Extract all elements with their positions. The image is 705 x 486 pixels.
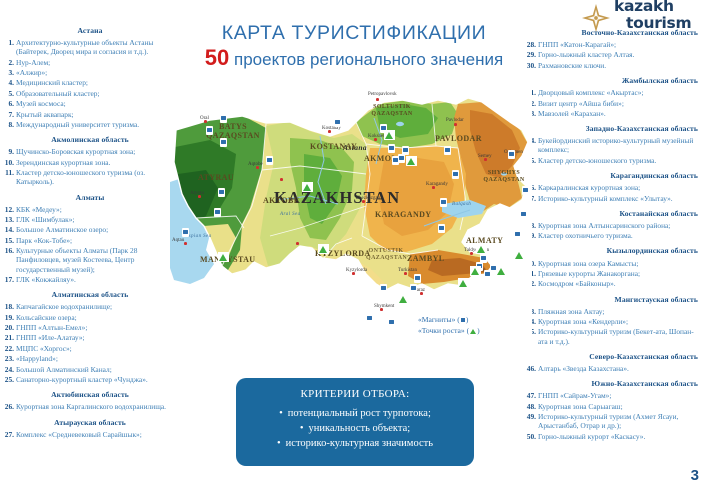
project-text: Алтарь «Звезда Казахстана».: [538, 364, 629, 373]
map-marker-growth-point[interactable]: [318, 244, 329, 254]
project-text: Кольсайские озера;: [16, 313, 77, 322]
map-marker-growth-point[interactable]: [384, 130, 395, 140]
region-group: Карагандинская область36.Каркаралинская …: [524, 171, 700, 203]
project-item[interactable]: 14.Большое Алматинское озеро;: [2, 225, 178, 234]
project-list: 27.Комплекс «Средневековый Сарайшык»;: [2, 430, 178, 439]
project-text: Пляжная зона Актау;: [538, 307, 604, 316]
project-number: 26.: [2, 402, 14, 411]
project-item[interactable]: 22.МЦПС «Хоргос»;: [2, 344, 178, 353]
map-marker-growth-point[interactable]: [514, 250, 525, 260]
map-city-dot: [362, 200, 365, 203]
map-city-dot: [352, 272, 355, 275]
project-list: 36.Каркаралинская курортная зона;37.Исто…: [524, 183, 700, 203]
map-marker-growth-point[interactable]: [458, 278, 469, 288]
map-marker-growth-point[interactable]: [398, 294, 409, 304]
map-legend-label: «Точки роста»: [418, 326, 465, 335]
map-city-dot: [432, 186, 435, 189]
project-number: 21.: [2, 333, 14, 342]
project-text: ГНПП «Сайрам-Угам»;: [538, 391, 611, 400]
region-group: Жамбылская область31.Дворцовый комплекс …: [524, 76, 700, 118]
map-marker-growth-point[interactable]: [496, 266, 507, 276]
project-text: Комплекс «Средневековый Сарайшык»;: [16, 430, 142, 439]
project-item[interactable]: 33.Мавзолей «Карахан».: [524, 109, 700, 118]
map-city-dot: [454, 123, 457, 126]
project-list: 28.ГНПП «Катон-Карагай»;29.Горно-лыжный …: [524, 40, 700, 70]
map-marker-magnet[interactable]: [220, 138, 227, 147]
region-group: Алматинская область18.Капчагайское водох…: [2, 290, 178, 384]
project-number: 11.: [2, 168, 14, 177]
project-number: 29.: [524, 50, 536, 59]
project-number: 19.: [2, 313, 14, 322]
map-marker-magnet[interactable]: [520, 210, 527, 219]
project-item[interactable]: 45.Историко-культурный туризм (Бекет-ата…: [524, 327, 700, 345]
map-marker-magnet[interactable]: [438, 224, 445, 233]
project-item[interactable]: 9.Щучинско-Боровская курортная зона;: [2, 147, 178, 156]
project-item[interactable]: 35.Кластер детско-юношеского туризма.: [524, 156, 700, 165]
map-city-dot: [204, 120, 207, 123]
criteria-item: потенциальный рост турпотока;: [236, 406, 474, 421]
project-number: 4.: [2, 78, 14, 87]
project-number: 17.: [2, 275, 14, 284]
project-text: КБК «Медеу»;: [16, 205, 62, 214]
project-list: 18.Капчагайское водохранилище;19.Кольсай…: [2, 302, 178, 384]
map-marker-growth-point[interactable]: [218, 252, 229, 262]
project-item[interactable]: 34.Букейординский историко-культурный му…: [524, 136, 700, 154]
project-text: Парк «Кок-Тобе»;: [16, 236, 72, 245]
project-count: 50: [205, 45, 229, 70]
project-text: Курортная зона озера Камысты;: [538, 259, 638, 268]
project-list: 43.Пляжная зона Актау;44.Курортная зона …: [524, 307, 700, 346]
poster-page: kazakh tourism КАРТА ТУРИСТИФИКАЦИИ 50 п…: [0, 0, 705, 486]
project-number: 28.: [524, 40, 536, 49]
map-marker-magnet[interactable]: [410, 284, 417, 293]
map-marker-magnet[interactable]: [366, 314, 373, 323]
region-group-title: Алматинская область: [2, 290, 178, 299]
project-number: 18.: [2, 302, 14, 311]
project-list: 38.Курортная зона Алтынсаринского района…: [524, 221, 700, 241]
map-marker-magnet[interactable]: [392, 156, 399, 165]
project-number: 16.: [2, 246, 14, 255]
map-marker-magnet[interactable]: [398, 154, 405, 163]
project-text: Визит центр «Айша биби»;: [538, 99, 624, 108]
project-item[interactable]: 36.Каркаралинская курортная зона;: [524, 183, 700, 192]
region-group-title: Карагандинская область: [524, 171, 700, 180]
map-city-dot: [328, 130, 331, 133]
project-number: 46.: [524, 364, 536, 373]
logo-line-1: kazakh: [614, 0, 691, 15]
map-marker-magnet[interactable]: [522, 186, 529, 195]
project-item[interactable]: 2.Нур-Алем;: [2, 58, 178, 67]
project-item[interactable]: 32.Визит центр «Айша биби»;: [524, 99, 700, 108]
project-list: 46.Алтарь «Звезда Казахстана».: [524, 364, 700, 373]
map-marker-magnet[interactable]: [440, 198, 447, 207]
project-text: Рахмановские ключи.: [538, 61, 606, 70]
project-item[interactable]: 29.Горно-лыжный кластер Алтая.: [524, 50, 700, 59]
project-item[interactable]: 48.Курортная зона Сарыагаш;: [524, 402, 700, 411]
legend-growth-marker: (): [465, 326, 480, 335]
region-group: Восточно-Казахстанская область28.ГНПП «К…: [524, 28, 700, 70]
criteria-box: КРИТЕРИИ ОТБОРА: потенциальный рост турп…: [236, 378, 474, 466]
project-item[interactable]: 37.Историко-культурный комплекс «Улытау»…: [524, 194, 700, 203]
page-number: 3: [691, 467, 699, 484]
project-item[interactable]: 41.Грязевые курорты Жанакоргана;: [524, 269, 700, 278]
project-text: Каркаралинская курортная зона;: [538, 183, 640, 192]
project-item[interactable]: 5.Образовательный кластер;: [2, 89, 178, 98]
project-text: Историко-культурный комплекс «Улытау».: [538, 194, 673, 203]
project-number: 10.: [2, 158, 14, 167]
project-text: «Happyland»;: [16, 354, 58, 363]
project-item[interactable]: 13.ГЛК «Шимбулак»;: [2, 215, 178, 224]
project-text: ГЛК «Кокжайляу».: [16, 275, 76, 284]
project-item[interactable]: 47.ГНПП «Сайрам-Угам»;: [524, 391, 700, 400]
project-number: 50.: [524, 432, 536, 441]
title-line-1: КАРТА ТУРИСТИФИКАЦИИ: [178, 22, 530, 44]
map-marker-growth-point[interactable]: [470, 266, 481, 276]
project-number: 25.: [2, 375, 14, 384]
project-number: 9.: [2, 147, 14, 156]
project-item[interactable]: 43.Пляжная зона Актау;: [524, 307, 700, 316]
project-item[interactable]: 39.Кластер охотничьего туризма.: [524, 231, 700, 240]
project-item[interactable]: 49.Историко-культурный туризм (Ахмет Яса…: [524, 412, 700, 430]
project-text: МЦПС «Хоргос»;: [16, 344, 72, 353]
project-text: Культурные объекты Алматы (Парк 28 Панфи…: [16, 246, 137, 273]
project-text: Грязевые курорты Жанакоргана;: [538, 269, 640, 278]
project-text: Щучинско-Боровская курортная зона;: [16, 147, 135, 156]
map-legend-label: «Магниты»: [418, 315, 455, 324]
project-list: 26.Курортная зона Каргалинского водохран…: [2, 402, 178, 411]
project-text: ГЛК «Шимбулак»;: [16, 215, 74, 224]
project-number: 2.: [2, 58, 14, 67]
map-marker-growth-point[interactable]: [302, 182, 313, 192]
region-group: Южно-Казахстанская область47.ГНПП «Сайра…: [524, 379, 700, 441]
page-title: КАРТА ТУРИСТИФИКАЦИИ 50 проектов региона…: [178, 22, 530, 72]
region-group-title: Актюбинская область: [2, 390, 178, 399]
map-city-dot: [296, 242, 299, 245]
criteria-item: историко-культурная значимость: [236, 436, 474, 451]
project-text: Курортная зона Сарыагаш;: [538, 402, 623, 411]
region-group-title: Северо-Казахстанская область: [524, 352, 700, 361]
title-line-2: 50 проектов регионального значения: [178, 46, 530, 72]
region-group-title: Жамбылская область: [524, 76, 700, 85]
project-text: Горно-лыжный курорт «Каскасу».: [538, 432, 645, 441]
region-group-title: Мангистауская область: [524, 295, 700, 304]
map-city-dot: [404, 272, 407, 275]
map-city-dot: [376, 98, 379, 101]
region-group: Костанайская область38.Курортная зона Ал…: [524, 209, 700, 241]
region-group: Алматы12.КБК «Медеу»;13.ГЛК «Шимбулак»;1…: [2, 193, 178, 285]
project-text: Капчагайское водохранилище;: [16, 302, 112, 311]
project-number: 14.: [2, 225, 14, 234]
map-city-dot: [470, 252, 473, 255]
map-legend-row: «Магниты» (): [418, 314, 480, 325]
region-group: Актюбинская область26.Курортная зона Кар…: [2, 390, 178, 411]
map-marker-growth-point[interactable]: [406, 156, 417, 166]
kazakhstan-map: KAZAKHSTAN Astana BATYS QAZAQSTAN ATYRAU…: [170, 78, 532, 338]
project-text: Букейординский историко-культурный музей…: [538, 136, 693, 154]
project-text: ГНПП «Алтын-Емел»;: [16, 323, 87, 332]
map-city-dot: [184, 242, 187, 245]
legend-magnet-marker: (): [455, 315, 468, 324]
map-marker-magnet[interactable]: [380, 284, 387, 293]
region-group: Астана1.Архитектурно-культурные объекты …: [2, 26, 178, 129]
project-number: 7.: [2, 110, 14, 119]
project-text: Горно-лыжный кластер Алтая.: [538, 50, 634, 59]
map-legend-row: «Точки роста» (): [418, 325, 480, 336]
project-item[interactable]: 26.Курортная зона Каргалинского водохран…: [2, 402, 178, 411]
project-text: Архитектурно-культурные объекты Астаны (…: [16, 38, 153, 56]
project-item[interactable]: 4.Медицинский кластер;: [2, 78, 178, 87]
project-text: Нур-Алем;: [16, 58, 50, 67]
region-group: Мангистауская область43.Пляжная зона Акт…: [524, 295, 700, 346]
map-marker-magnet[interactable]: [508, 150, 515, 159]
project-item[interactable]: 31.Дворцовый комплекс «Акыртас»;: [524, 88, 700, 97]
project-item[interactable]: 27.Комплекс «Средневековый Сарайшык»;: [2, 430, 178, 439]
project-number: 24.: [2, 365, 14, 374]
project-number: 30.: [524, 61, 536, 70]
criteria-title: КРИТЕРИИ ОТБОРА:: [236, 388, 474, 400]
project-text: Курортная зона Алтынсаринского района;: [538, 221, 670, 230]
region-group-title: Акмолинская область: [2, 135, 178, 144]
right-project-list: Восточно-Казахстанская область28.ГНПП «К…: [524, 28, 700, 447]
map-marker-magnet[interactable]: [182, 228, 189, 237]
map-city-dot: [256, 166, 259, 169]
project-number: 5.: [2, 89, 14, 98]
project-number: 3.: [2, 68, 14, 77]
project-item[interactable]: 1.Архитектурно-культурные объекты Астаны…: [2, 38, 178, 56]
project-text: Курортная зона Каргалинского водохранили…: [16, 402, 166, 411]
map-marker-magnet[interactable]: [388, 144, 395, 153]
project-item[interactable]: 11.Кластер детско-юношеского туризма (оз…: [2, 168, 178, 186]
map-city-dot: [374, 138, 377, 141]
legend-triangle-icon: [470, 329, 476, 334]
project-item[interactable]: 15.Парк «Кок-Тобе»;: [2, 236, 178, 245]
project-item[interactable]: 46.Алтарь «Звезда Казахстана».: [524, 364, 700, 373]
project-list: 9.Щучинско-Боровская курортная зона;10.З…: [2, 147, 178, 186]
region-group: Акмолинская область9.Щучинско-Боровская …: [2, 135, 178, 186]
map-marker-magnet[interactable]: [402, 146, 409, 155]
project-text: Образовательный кластер;: [16, 89, 100, 98]
project-list: 12.КБК «Медеу»;13.ГЛК «Шимбулак»;14.Боль…: [2, 205, 178, 285]
legend-square-icon: [461, 318, 465, 322]
region-group-title: Кызылординская область: [524, 246, 700, 255]
map-marker-magnet[interactable]: [266, 156, 273, 165]
map-marker-magnet[interactable]: [452, 170, 459, 179]
region-group-title: Алматы: [2, 193, 178, 202]
map-marker-magnet[interactable]: [414, 274, 421, 283]
project-text: Кластер детско-юношеского туризма (оз. К…: [16, 168, 145, 186]
project-number: 48.: [524, 402, 536, 411]
project-text: ГНПП «Катон-Карагай»;: [538, 40, 616, 49]
project-item[interactable]: 18.Капчагайское водохранилище;: [2, 302, 178, 311]
project-number: 49.: [524, 412, 536, 421]
region-group: Атырауская область27.Комплекс «Средневек…: [2, 418, 178, 439]
map-city-dot: [420, 292, 423, 295]
region-group: Северо-Казахстанская область46.Алтарь «З…: [524, 352, 700, 373]
project-text: Историко-культурный туризм (Бекет-ата, Ш…: [538, 327, 694, 345]
region-group: Западно-Казахстанская область34.Букейорд…: [524, 124, 700, 165]
project-item[interactable]: 25.Санаторно-курортный кластер «Чунджа».: [2, 375, 178, 384]
criteria-list: потенциальный рост турпотока;уникальност…: [236, 406, 474, 451]
project-item[interactable]: 44.Курортная зона «Кендерли»;: [524, 317, 700, 326]
map-marker-magnet[interactable]: [444, 146, 451, 155]
project-item[interactable]: 12.КБК «Медеу»;: [2, 205, 178, 214]
project-text: Кластер охотничьего туризма.: [538, 231, 633, 240]
project-text: Медицинский кластер;: [16, 78, 88, 87]
map-city-dot: [280, 178, 283, 181]
project-text: Историко-культурный туризм (Ахмет Ясауи,…: [538, 412, 678, 430]
map-marker-magnet[interactable]: [214, 208, 221, 217]
project-number: 8.: [2, 120, 14, 129]
project-item[interactable]: 10.Зерендинская курортная зона.: [2, 158, 178, 167]
project-text: Мавзолей «Карахан».: [538, 109, 606, 118]
map-marker-magnet[interactable]: [218, 188, 225, 197]
project-number: 23.: [2, 354, 14, 363]
project-text: Дворцовый комплекс «Акыртас»;: [538, 88, 644, 97]
title-line-2-rest: проектов регионального значения: [234, 50, 503, 69]
project-number: 47.: [524, 391, 536, 400]
project-item[interactable]: 30.Рахмановские ключи.: [524, 61, 700, 70]
map-marker-magnet[interactable]: [206, 126, 213, 135]
project-item[interactable]: 40.Курортная зона озера Камысты;: [524, 259, 700, 268]
region-group-title: Восточно-Казахстанская область: [524, 28, 700, 37]
project-item[interactable]: 19.Кольсайские озера;: [2, 313, 178, 322]
map-city-dot: [484, 158, 487, 161]
project-text: «Алжир»;: [16, 68, 47, 77]
project-item[interactable]: 8.Международный университет туризма.: [2, 120, 178, 129]
project-item[interactable]: 24.Большой Алматинский Канал;: [2, 365, 178, 374]
map-marker-magnet[interactable]: [220, 114, 227, 123]
project-text: Санаторно-курортный кластер «Чунджа».: [16, 375, 148, 384]
project-text: Космодром «Байконыр».: [538, 279, 616, 288]
left-project-list: Астана1.Архитектурно-культурные объекты …: [2, 26, 178, 445]
project-item[interactable]: 28.ГНПП «Катон-Карагай»;: [524, 40, 700, 49]
map-marker-magnet[interactable]: [334, 118, 341, 127]
map-city-dot: [380, 308, 383, 311]
project-list: 31.Дворцовый комплекс «Акыртас»;32.Визит…: [524, 88, 700, 118]
project-item[interactable]: 6.Музей космоса;: [2, 99, 178, 108]
project-text: Международный университет туризма.: [16, 120, 139, 129]
project-number: 15.: [2, 236, 14, 245]
region-group-title: Западно-Казахстанская область: [524, 124, 700, 133]
project-item[interactable]: 50.Горно-лыжный курорт «Каскасу».: [524, 432, 700, 441]
project-number: 1.: [2, 38, 14, 47]
project-number: 6.: [2, 99, 14, 108]
project-number: 12.: [2, 205, 14, 214]
project-text: Зерендинская курортная зона.: [16, 158, 110, 167]
project-number: 20.: [2, 323, 14, 332]
project-item[interactable]: 7.Крытый аквапарк;: [2, 110, 178, 119]
project-list: 40.Курортная зона озера Камысты;41.Грязе…: [524, 259, 700, 289]
project-item[interactable]: 42.Космодром «Байконыр».: [524, 279, 700, 288]
project-text: Курортная зона «Кендерли»;: [538, 317, 628, 326]
region-group: Кызылординская область40.Курортная зона …: [524, 246, 700, 288]
map-legend: «Магниты» ()«Точки роста» (): [418, 314, 480, 336]
project-text: ГНПП «Иле-Алатау»;: [16, 333, 85, 342]
region-group-title: Атырауская область: [2, 418, 178, 427]
project-item[interactable]: 3.«Алжир»;: [2, 68, 178, 77]
region-group-title: Южно-Казахстанская область: [524, 379, 700, 388]
project-item[interactable]: 38.Курортная зона Алтынсаринского района…: [524, 221, 700, 230]
map-marker-magnet[interactable]: [514, 230, 521, 239]
region-group-title: Астана: [2, 26, 178, 35]
project-text: Большой Алматинский Канал;: [16, 365, 112, 374]
project-item[interactable]: 23.«Happyland»;: [2, 354, 178, 363]
project-list: 47.ГНПП «Сайрам-Угам»;48.Курортная зона …: [524, 391, 700, 441]
map-marker-growth-point[interactable]: [476, 244, 487, 254]
criteria-item: уникальность объекта;: [236, 421, 474, 436]
map-marker-magnet[interactable]: [388, 318, 395, 327]
region-group-title: Костанайская область: [524, 209, 700, 218]
project-number: 13.: [2, 215, 14, 224]
project-item[interactable]: 21.ГНПП «Иле-Алатау»;: [2, 333, 178, 342]
project-text: Большое Алматинское озеро;: [16, 225, 108, 234]
project-item[interactable]: 17.ГЛК «Кокжайляу».: [2, 275, 178, 284]
project-text: Крытый аквапарк;: [16, 110, 74, 119]
project-list: 34.Букейординский историко-культурный му…: [524, 136, 700, 165]
project-text: Музей космоса;: [16, 99, 66, 108]
project-number: 27.: [2, 430, 14, 439]
project-number: 22.: [2, 344, 14, 353]
project-list: 1.Архитектурно-культурные объекты Астаны…: [2, 38, 178, 129]
project-item[interactable]: 16.Культурные объекты Алматы (Парк 28 Па…: [2, 246, 178, 274]
project-text: Кластер детско-юношеского туризма.: [538, 156, 656, 165]
map-city-dot: [198, 195, 201, 198]
project-item[interactable]: 20.ГНПП «Алтын-Емел»;: [2, 323, 178, 332]
